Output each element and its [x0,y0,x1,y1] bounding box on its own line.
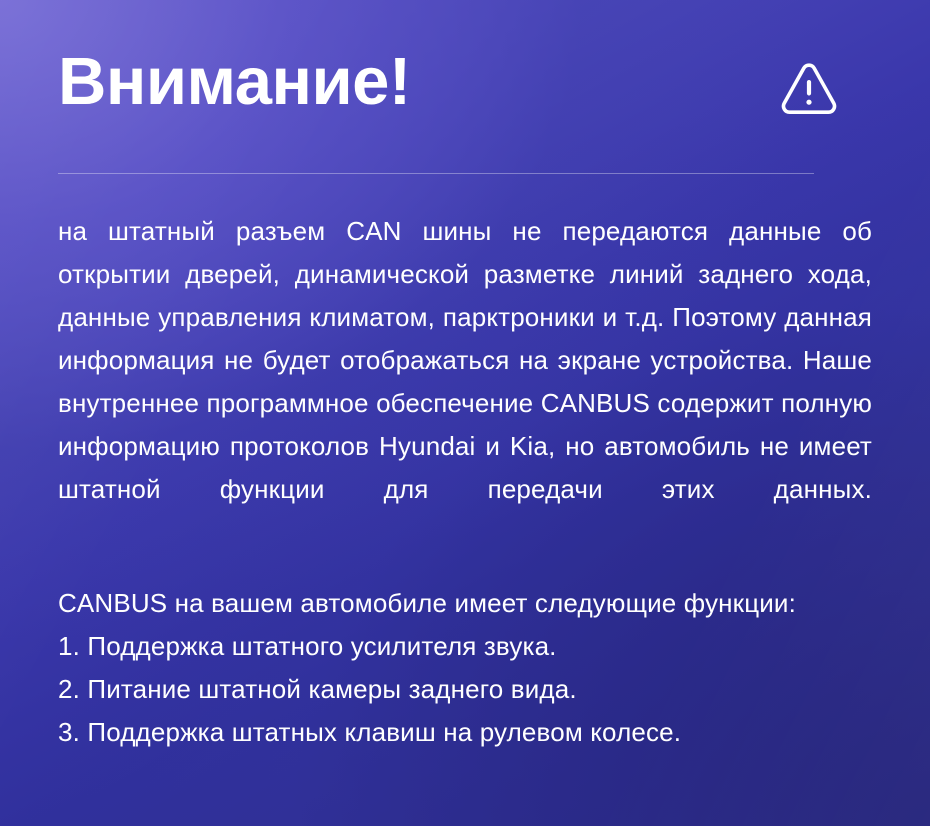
banner-content: Внимание! на штатный разъем CAN шины не … [0,0,930,754]
banner-header: Внимание! [58,0,872,174]
page-title: Внимание! [58,48,411,115]
list-item: 3. Поддержка штатных клавиш на рулевом к… [58,711,872,754]
warning-triangle-icon [778,60,840,118]
banner-body: на штатный разъем CAN шины не передаются… [58,174,872,754]
list-item: 1. Поддержка штатного усилителя звука. [58,625,872,668]
warning-banner: Внимание! на штатный разъем CAN шины не … [0,0,930,826]
feature-list: 1. Поддержка штатного усилителя звука. 2… [58,625,872,754]
list-item: 2. Питание штатной камеры заднего вида. [58,668,872,711]
features-intro: CANBUS на вашем автомобиле имеет следующ… [58,554,872,625]
notice-paragraph: на штатный разъем CAN шины не передаются… [58,210,872,554]
